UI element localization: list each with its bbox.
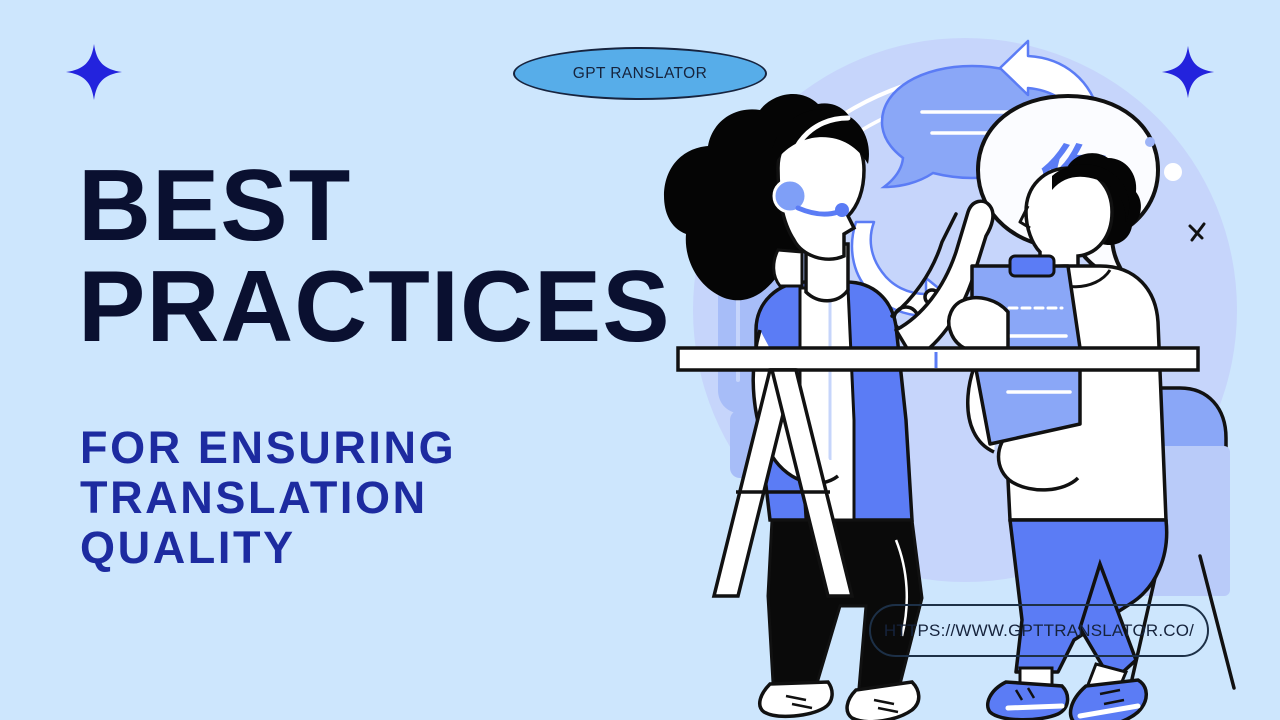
website-url-label: HTTPS://WWW.GPTTRANSLATOR.CO/ (884, 621, 1194, 641)
page-subtitle: FOR ENSURING TRANSLATION QUALITY (80, 423, 700, 573)
subtitle-line-2: TRANSLATION (80, 473, 700, 523)
subtitle-line-3: QUALITY (80, 523, 700, 573)
title-line-2: PRACTICES (78, 259, 718, 356)
title-line-1: BEST (78, 158, 718, 255)
brand-badge-label: GPT RANSLATOR (573, 65, 707, 83)
page-title: BEST PRACTICES (78, 158, 718, 356)
brand-badge[interactable]: GPT RANSLATOR (513, 47, 767, 100)
sparkle-star-left-icon (64, 42, 124, 107)
slide-canvas: 你 (0, 0, 1280, 720)
subtitle-line-1: FOR ENSURING (80, 423, 700, 473)
website-url-pill[interactable]: HTTPS://WWW.GPTTRANSLATOR.CO/ (869, 604, 1209, 657)
